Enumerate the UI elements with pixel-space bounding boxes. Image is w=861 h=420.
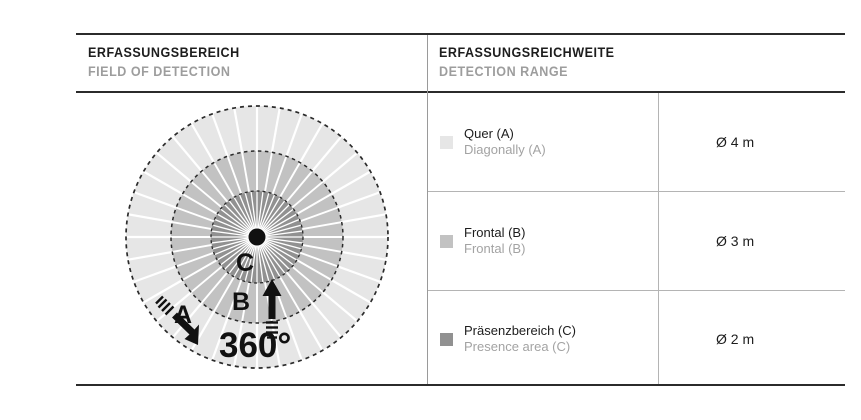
row-value: Ø 2 m [658, 331, 754, 347]
header-en-label: DETECTION RANGE [439, 63, 615, 80]
header-field-of-detection: ERFASSUNGSBEREICH FIELD OF DETECTION [88, 44, 251, 80]
header-de-label: ERFASSUNGSREICHWEITE [439, 44, 615, 61]
datasheet-panel: C B [0, 0, 861, 420]
row-label-group: Frontal (B) Frontal (B) [428, 225, 658, 257]
row-label-de: Präsenzbereich (C) [464, 323, 576, 338]
legend-swatch [440, 235, 453, 248]
row-text: Präsenzbereich (C) Presence area (C) [464, 323, 576, 355]
row-label-group: Präsenzbereich (C) Presence area (C) [428, 323, 658, 355]
row-label-en: Frontal (B) [464, 241, 525, 256]
table-header-row: ERFASSUNGSBEREICH FIELD OF DETECTION ERF… [76, 35, 845, 93]
row-value: Ø 4 m [658, 134, 754, 150]
table-row: Präsenzbereich (C) Presence area (C) Ø 2… [428, 290, 845, 388]
legend-swatch [440, 333, 453, 346]
row-value: Ø 3 m [658, 233, 754, 249]
row-label-de: Quer (A) [464, 126, 514, 141]
spec-table: ERFASSUNGSBEREICH FIELD OF DETECTION ERF… [76, 33, 845, 386]
row-label-en: Diagonally (A) [464, 142, 546, 157]
header-de-label: ERFASSUNGSBEREICH [88, 44, 240, 61]
row-label-en: Presence area (C) [464, 339, 570, 354]
row-label-group: Quer (A) Diagonally (A) [428, 126, 658, 158]
row-label-de: Frontal (B) [464, 225, 525, 240]
range-rows: Quer (A) Diagonally (A) Ø 4 m Frontal (B… [428, 93, 845, 384]
row-text: Frontal (B) Frontal (B) [464, 225, 525, 257]
table-row: Frontal (B) Frontal (B) Ø 3 m [428, 191, 845, 289]
legend-swatch [440, 136, 453, 149]
row-text: Quer (A) Diagonally (A) [464, 126, 546, 158]
header-detection-range: ERFASSUNGSREICHWEITE DETECTION RANGE [439, 44, 628, 80]
table-row: Quer (A) Diagonally (A) Ø 4 m [428, 93, 845, 191]
header-en-label: FIELD OF DETECTION [88, 63, 240, 80]
